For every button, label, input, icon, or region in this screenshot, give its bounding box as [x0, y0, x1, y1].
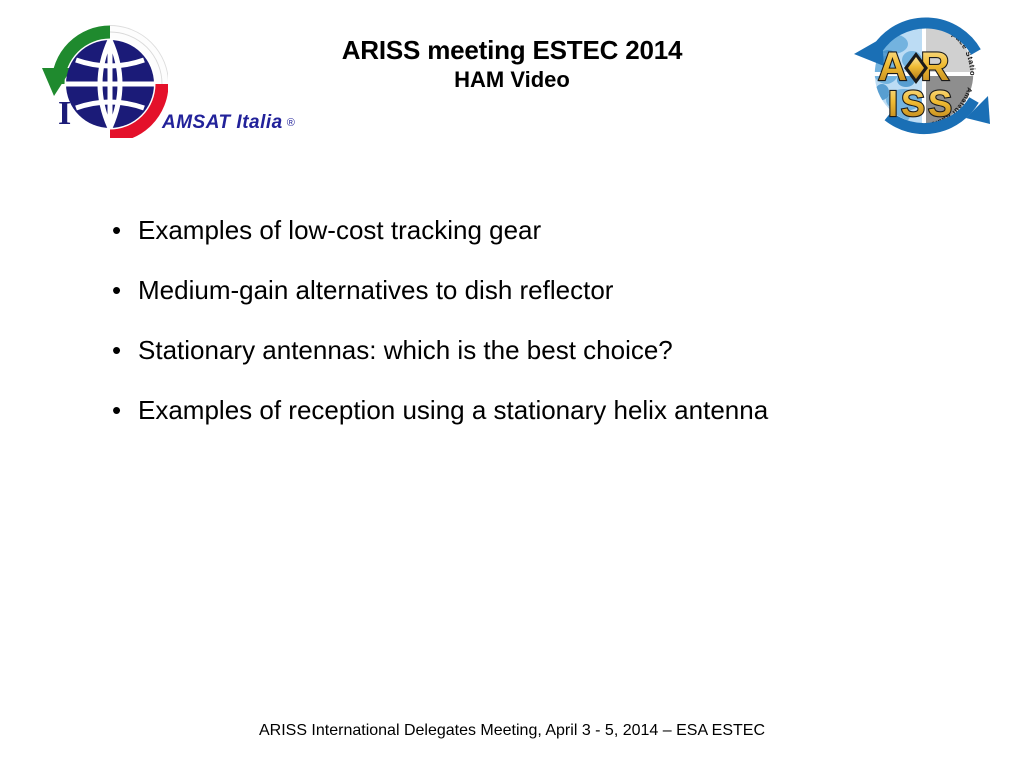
slide-title-line-1: ARISS meeting ESTEC 2014 — [230, 34, 794, 66]
bullet-marker-icon: • — [108, 332, 138, 368]
bullet-text: Medium-gain alternatives to dish reflect… — [138, 272, 613, 308]
bullet-text: Examples of low-cost tracking gear — [138, 212, 541, 248]
bullet-text: Stationary antennas: which is the best c… — [138, 332, 673, 368]
slide-canvas: I AMSAT Italia® ARISS meeting ESTEC 2014… — [0, 0, 1024, 768]
amsat-wordmark: AMSAT Italia® — [162, 112, 295, 134]
slide-title-line-2: HAM Video — [230, 66, 794, 94]
amsat-wordmark-text: AMSAT Italia — [162, 112, 283, 133]
list-item: • Stationary antennas: which is the best… — [108, 332, 948, 368]
slide-title: ARISS meeting ESTEC 2014 HAM Video — [230, 34, 794, 94]
registered-trademark-icon: ® — [287, 117, 296, 129]
bullet-marker-icon: • — [108, 392, 138, 428]
bullet-list: • Examples of low-cost tracking gear • M… — [108, 212, 948, 452]
list-item: • Medium-gain alternatives to dish refle… — [108, 272, 948, 308]
ariss-letters-bottom: ISS — [888, 83, 955, 124]
list-item: • Examples of low-cost tracking gear — [108, 212, 948, 248]
bullet-marker-icon: • — [108, 212, 138, 248]
list-item: • Examples of reception using a stationa… — [108, 392, 948, 428]
amsat-letter-i: I — [58, 95, 71, 132]
bullet-text: Examples of reception using a stationary… — [138, 392, 768, 428]
ariss-logo: Space Station Amateur Radio on Internati… — [848, 4, 996, 146]
slide-footer: ARISS International Delegates Meeting, A… — [0, 720, 1024, 742]
bullet-marker-icon: • — [108, 272, 138, 308]
amsat-globe-mark: I — [32, 6, 168, 138]
